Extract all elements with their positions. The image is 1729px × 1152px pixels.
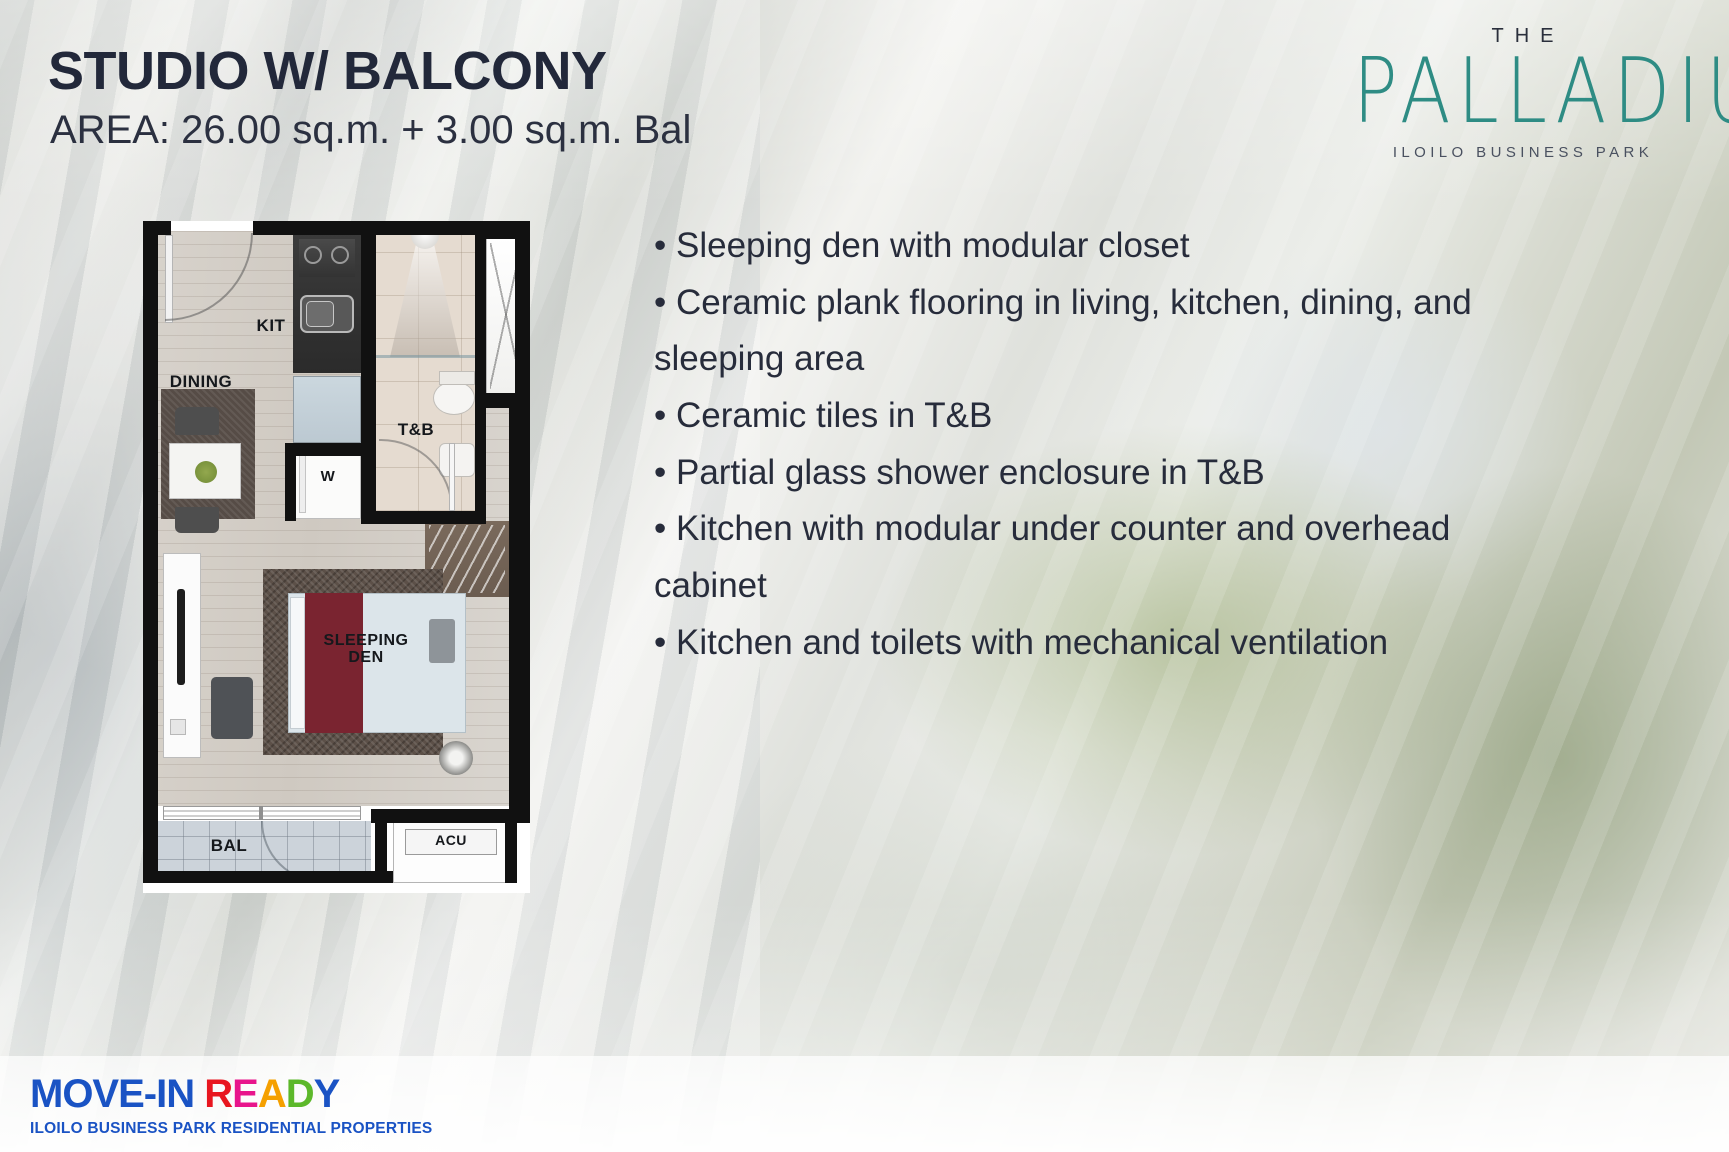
wall-left-outer	[143, 221, 158, 883]
wall-tb-bottom	[361, 511, 476, 524]
list-item: • Sleeping den with modular closet	[654, 218, 1534, 275]
page-title: STUDIO W/ BALCONY	[48, 40, 606, 102]
move-in-text: MOVE-IN	[30, 1072, 204, 1116]
wall-washer-right	[361, 443, 376, 521]
wall-right-mid	[509, 407, 530, 727]
list-item: • Kitchen and toilets with mechanical ve…	[654, 615, 1534, 672]
ready-letter-y: Y	[314, 1072, 340, 1116]
wall-right-notch	[509, 727, 530, 749]
wall-closet-top	[486, 233, 530, 239]
area-subtitle: AREA: 26.00 sq.m. + 3.00 sq.m. Bal	[50, 108, 691, 153]
label-balcony: BAL	[201, 837, 257, 855]
label-kitchen: KIT	[241, 317, 301, 335]
sliding-door-divider	[259, 806, 263, 820]
wall-washer-left	[285, 443, 296, 521]
dining-chair-icon	[175, 407, 219, 435]
kitchen-lower-cabinet	[293, 376, 361, 443]
list-item: • Kitchen with modular under counter and…	[654, 501, 1534, 614]
glass-shower-enclosure	[375, 355, 475, 358]
list-item: • Partial glass shower enclosure in T&B	[654, 445, 1534, 502]
ceiling-fixture-icon	[439, 741, 473, 775]
wall-closet-bottom	[479, 393, 530, 408]
label-acu: ACU	[415, 833, 487, 848]
ready-letter-e: E	[232, 1072, 258, 1116]
toilet-icon	[433, 381, 475, 415]
burner-icon	[304, 246, 322, 264]
plant-icon	[195, 461, 217, 483]
list-item: • Ceramic tiles in T&B	[654, 388, 1534, 445]
lounge-chair-icon	[211, 677, 253, 739]
sink-basin-icon	[306, 301, 334, 327]
list-item: • Ceramic plank flooring in living, kitc…	[654, 275, 1534, 388]
move-in-ready-bar: MOVE-IN READY ILOILO BUSINESS PARK RESID…	[0, 1056, 1729, 1152]
ready-letter-r: R	[204, 1072, 232, 1116]
label-dining: DINING	[151, 373, 251, 391]
console-drawer-icon	[170, 719, 186, 735]
label-toilet-bath: T&B	[383, 421, 449, 439]
bed-pillow-icon	[290, 597, 305, 729]
dining-chair-icon	[175, 507, 219, 533]
wall-balcony-bottom	[143, 871, 393, 883]
wall-right-upper	[515, 221, 530, 407]
wall-acu-right	[505, 817, 517, 883]
palladium-logo: THE PALLADIUM ILOILO BUSINESS PARK	[1353, 26, 1693, 161]
burner-icon	[331, 246, 349, 264]
tb-door-panel	[449, 443, 455, 511]
move-in-ready-subtitle: ILOILO BUSINESS PARK RESIDENTIAL PROPERT…	[30, 1120, 432, 1138]
toilet-tank-icon	[439, 371, 475, 385]
lavatory-icon	[439, 443, 475, 477]
nightstand-icon	[429, 619, 455, 663]
tv-screen-icon	[177, 589, 185, 685]
ready-letter-d: D	[286, 1072, 314, 1116]
floor-plan: KIT DINING T&B W SLEEPING DEN BAL ACU	[143, 221, 530, 893]
feature-list: • Sleeping den with modular closet • Cer…	[654, 218, 1534, 672]
wall-acu-divider	[375, 817, 387, 883]
label-washer: W	[305, 469, 351, 485]
move-in-ready-wordmark: MOVE-IN READY	[30, 1074, 432, 1114]
wall-tb-right	[475, 233, 486, 524]
move-in-ready-logo: MOVE-IN READY ILOILO BUSINESS PARK RESID…	[30, 1074, 432, 1138]
ready-letter-a: A	[258, 1072, 286, 1116]
logo-palladium-text: PALLADIUM	[1353, 50, 1693, 133]
wall-top-left	[143, 221, 171, 235]
wall-kitchen-partition-v	[361, 233, 376, 445]
label-sleeping-den: SLEEPING DEN	[306, 633, 426, 667]
logo-tagline: ILOILO BUSINESS PARK	[1353, 144, 1693, 161]
